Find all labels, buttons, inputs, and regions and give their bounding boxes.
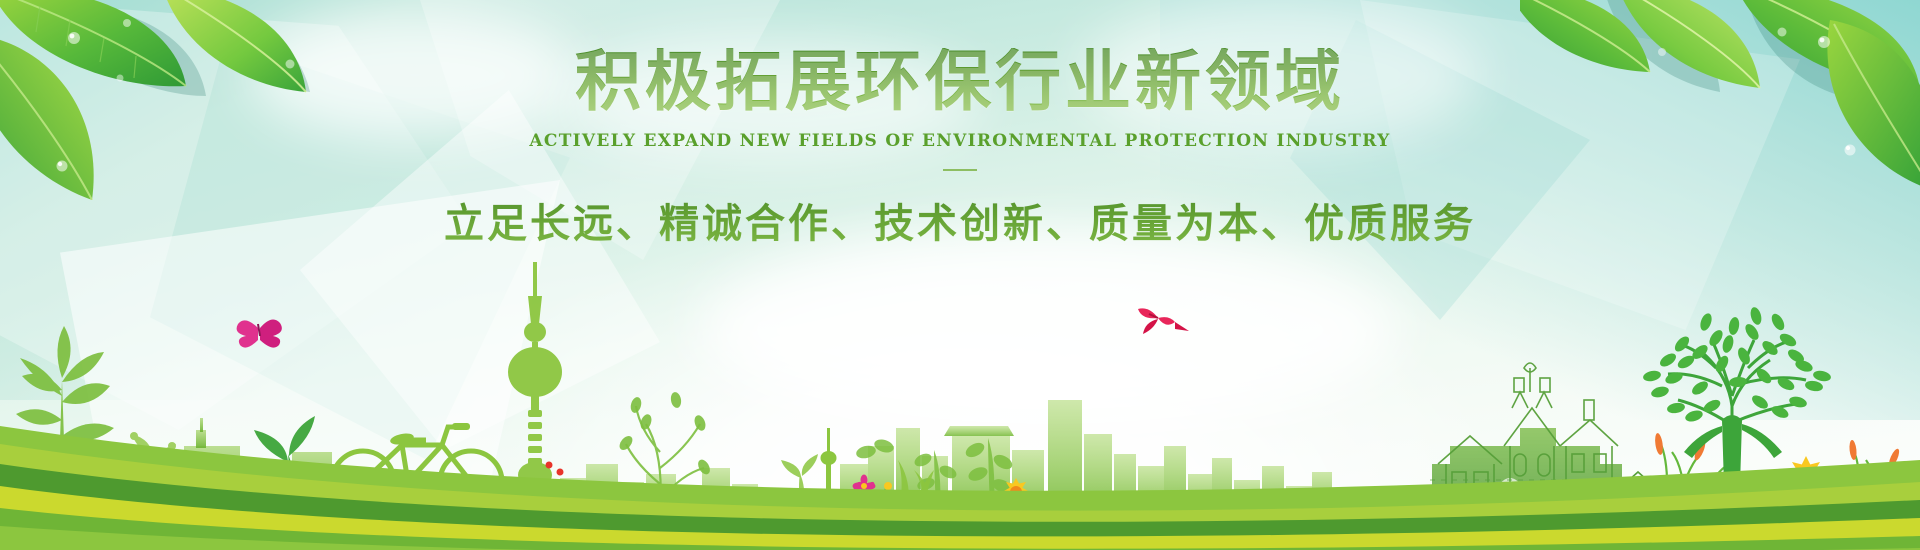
grass-bands-foreground	[0, 340, 1920, 550]
leaves-top-right	[1520, 0, 1920, 190]
hummingbird	[1138, 308, 1189, 334]
title-divider	[943, 169, 977, 171]
leaves-top-left	[0, 0, 420, 200]
eco-banner: 积极拓展环保行业新领域 ACTIVELY EXPAND NEW FIELDS O…	[0, 0, 1920, 550]
